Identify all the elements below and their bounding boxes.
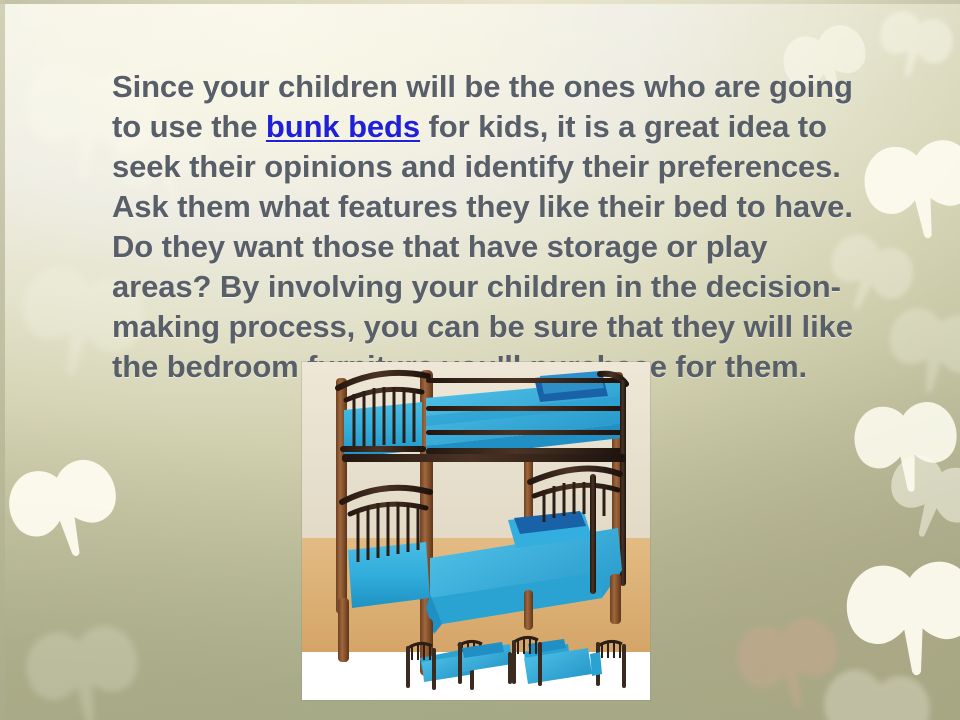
slide-canvas: Since your children will be the ones who… <box>0 0 960 720</box>
bunk-bed-illustration <box>302 362 650 700</box>
bunk-bed-photo <box>302 362 650 700</box>
left-edge-line <box>0 0 5 720</box>
top-edge-line <box>0 0 960 4</box>
paragraph-text-2: for kids, it is a great idea to seek the… <box>112 109 853 384</box>
body-paragraph: Since your children will be the ones who… <box>112 67 864 387</box>
bunk-beds-link[interactable]: bunk beds <box>266 109 420 144</box>
